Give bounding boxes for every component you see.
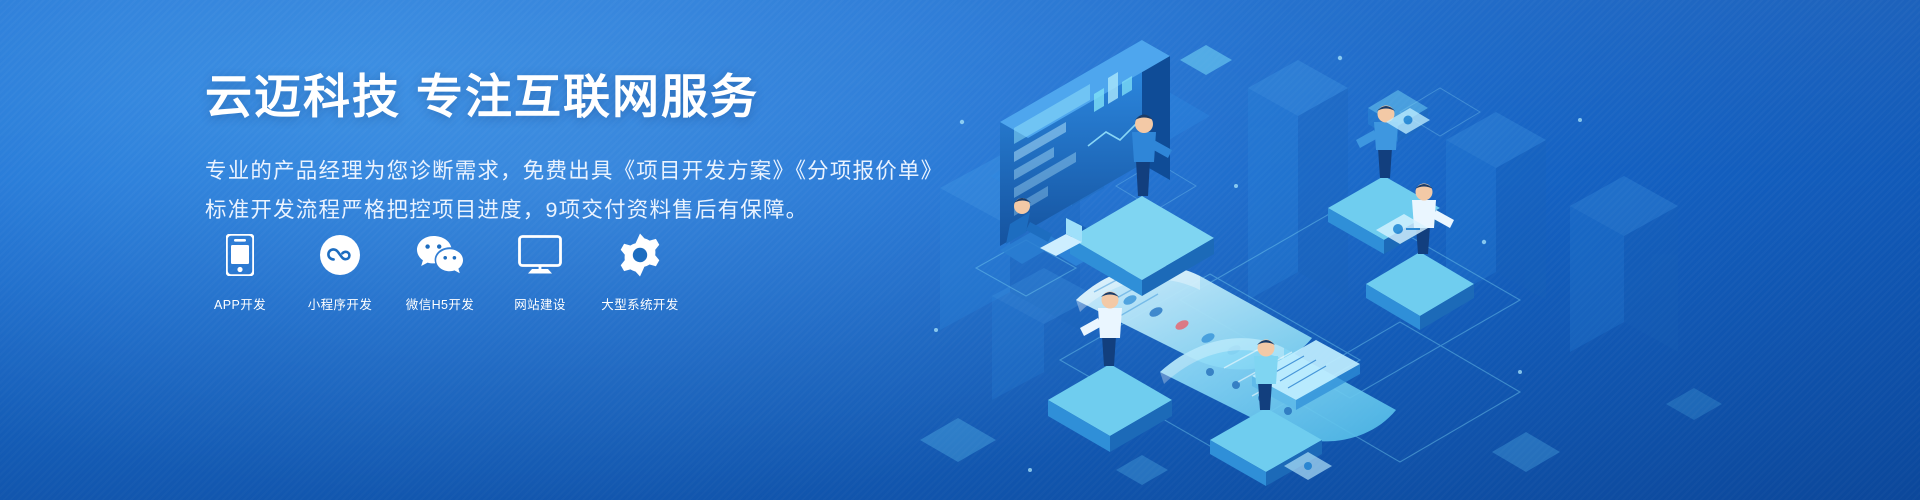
service-label: 微信H5开发 [406, 294, 474, 313]
gear-icon [618, 232, 662, 278]
subtitle-line-2: 标准开发流程严格把控项目进度，9项交付资料售后有保障。 [205, 191, 905, 229]
service-item-large-system[interactable]: 大型系统开发 [603, 232, 677, 313]
monitor-icon [518, 232, 562, 278]
service-item-app[interactable]: APP开发 [203, 232, 277, 313]
service-list: APP开发 小程序开发 微信 [203, 232, 677, 313]
service-label: 小程序开发 [308, 294, 373, 313]
service-label: APP开发 [214, 294, 266, 313]
service-item-website[interactable]: 网站建设 [503, 232, 577, 313]
subtitle-line-1: 专业的产品经理为您诊断需求，免费出具《项目开发方案》《分项报价单》 [205, 152, 905, 190]
service-item-miniprogram[interactable]: 小程序开发 [303, 232, 377, 313]
hero-subtitle: 专业的产品经理为您诊断需求，免费出具《项目开发方案》《分项报价单》 标准开发流程… [205, 152, 905, 229]
wechat-icon [415, 232, 465, 278]
mini-program-icon [319, 232, 361, 278]
isometric-tech-team-illustration [880, 0, 1920, 500]
hero-banner: 云迈科技 专注互联网服务 专业的产品经理为您诊断需求，免费出具《项目开发方案》《… [0, 0, 1920, 500]
service-label: 大型系统开发 [601, 294, 678, 313]
service-item-wechat-h5[interactable]: 微信H5开发 [403, 232, 477, 313]
page-title: 云迈科技 专注互联网服务 [205, 68, 905, 126]
hero-copy: 云迈科技 专注互联网服务 专业的产品经理为您诊断需求，免费出具《项目开发方案》《… [205, 68, 905, 229]
mobile-phone-icon [226, 232, 254, 278]
service-label: 网站建设 [514, 294, 566, 313]
